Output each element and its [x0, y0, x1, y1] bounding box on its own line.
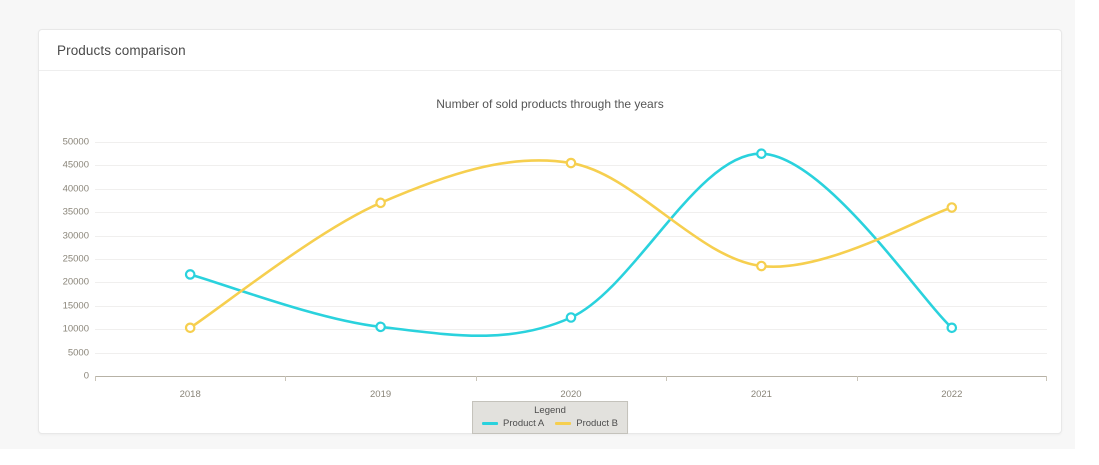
card-body: Number of sold products through the year… — [39, 71, 1061, 433]
legend-swatch-product-b — [555, 422, 571, 425]
legend-title: Legend — [482, 405, 618, 416]
x-axis-tick-label: 2022 — [941, 389, 962, 400]
x-axis-tick — [95, 376, 96, 381]
y-axis-tick-label: 15000 — [63, 300, 89, 311]
x-axis-line — [95, 376, 1047, 377]
series-line-product-a — [190, 154, 952, 336]
y-axis-labels: 0500010000150002000025000300003500040000… — [43, 142, 89, 376]
legend-label-product-a: Product A — [503, 418, 544, 429]
y-axis-tick-label: 40000 — [63, 183, 89, 194]
y-axis-tick-label: 45000 — [63, 160, 89, 171]
data-point-marker[interactable] — [186, 270, 194, 278]
legend-items: Product A Product B — [482, 418, 618, 429]
series-line-product-b — [190, 160, 952, 327]
chart-plot-area: 0500010000150002000025000300003500040000… — [95, 142, 1047, 376]
data-point-marker[interactable] — [757, 262, 765, 270]
legend-item-product-a[interactable]: Product A — [482, 418, 544, 429]
x-axis-tick — [1046, 376, 1047, 381]
data-point-marker[interactable] — [948, 324, 956, 332]
x-axis-tick — [285, 376, 286, 381]
data-point-marker[interactable] — [948, 203, 956, 211]
y-axis-tick-label: 0 — [84, 371, 89, 382]
x-axis-tick-label: 2018 — [180, 389, 201, 400]
chart-title: Number of sold products through the year… — [39, 97, 1061, 111]
y-axis-tick-label: 10000 — [63, 324, 89, 335]
x-axis-tick — [857, 376, 858, 381]
data-point-marker[interactable] — [376, 323, 384, 331]
legend-swatch-product-a — [482, 422, 498, 425]
y-axis-tick-label: 35000 — [63, 207, 89, 218]
card-title: Products comparison — [57, 43, 186, 58]
chart-series — [95, 142, 1047, 376]
data-point-marker[interactable] — [567, 159, 575, 167]
x-axis-tick-label: 2019 — [370, 389, 391, 400]
x-axis-tick-label: 2021 — [751, 389, 772, 400]
x-axis-tick-label: 2020 — [560, 389, 581, 400]
data-point-marker[interactable] — [186, 324, 194, 332]
chart-legend: Legend Product A Product B — [472, 401, 628, 434]
y-axis-tick-label: 20000 — [63, 277, 89, 288]
card-header: Products comparison — [39, 30, 1061, 71]
data-point-marker[interactable] — [567, 313, 575, 321]
data-point-marker[interactable] — [376, 199, 384, 207]
products-comparison-card: Products comparison Number of sold produ… — [38, 29, 1062, 434]
y-axis-tick-label: 30000 — [63, 230, 89, 241]
y-axis-tick-label: 25000 — [63, 254, 89, 265]
y-axis-tick-label: 50000 — [63, 137, 89, 148]
x-axis-tick — [666, 376, 667, 381]
legend-item-product-b[interactable]: Product B — [555, 418, 618, 429]
x-axis-tick — [476, 376, 477, 381]
data-point-marker[interactable] — [757, 150, 765, 158]
legend-label-product-b: Product B — [576, 418, 618, 429]
y-axis-tick-label: 5000 — [68, 347, 89, 358]
